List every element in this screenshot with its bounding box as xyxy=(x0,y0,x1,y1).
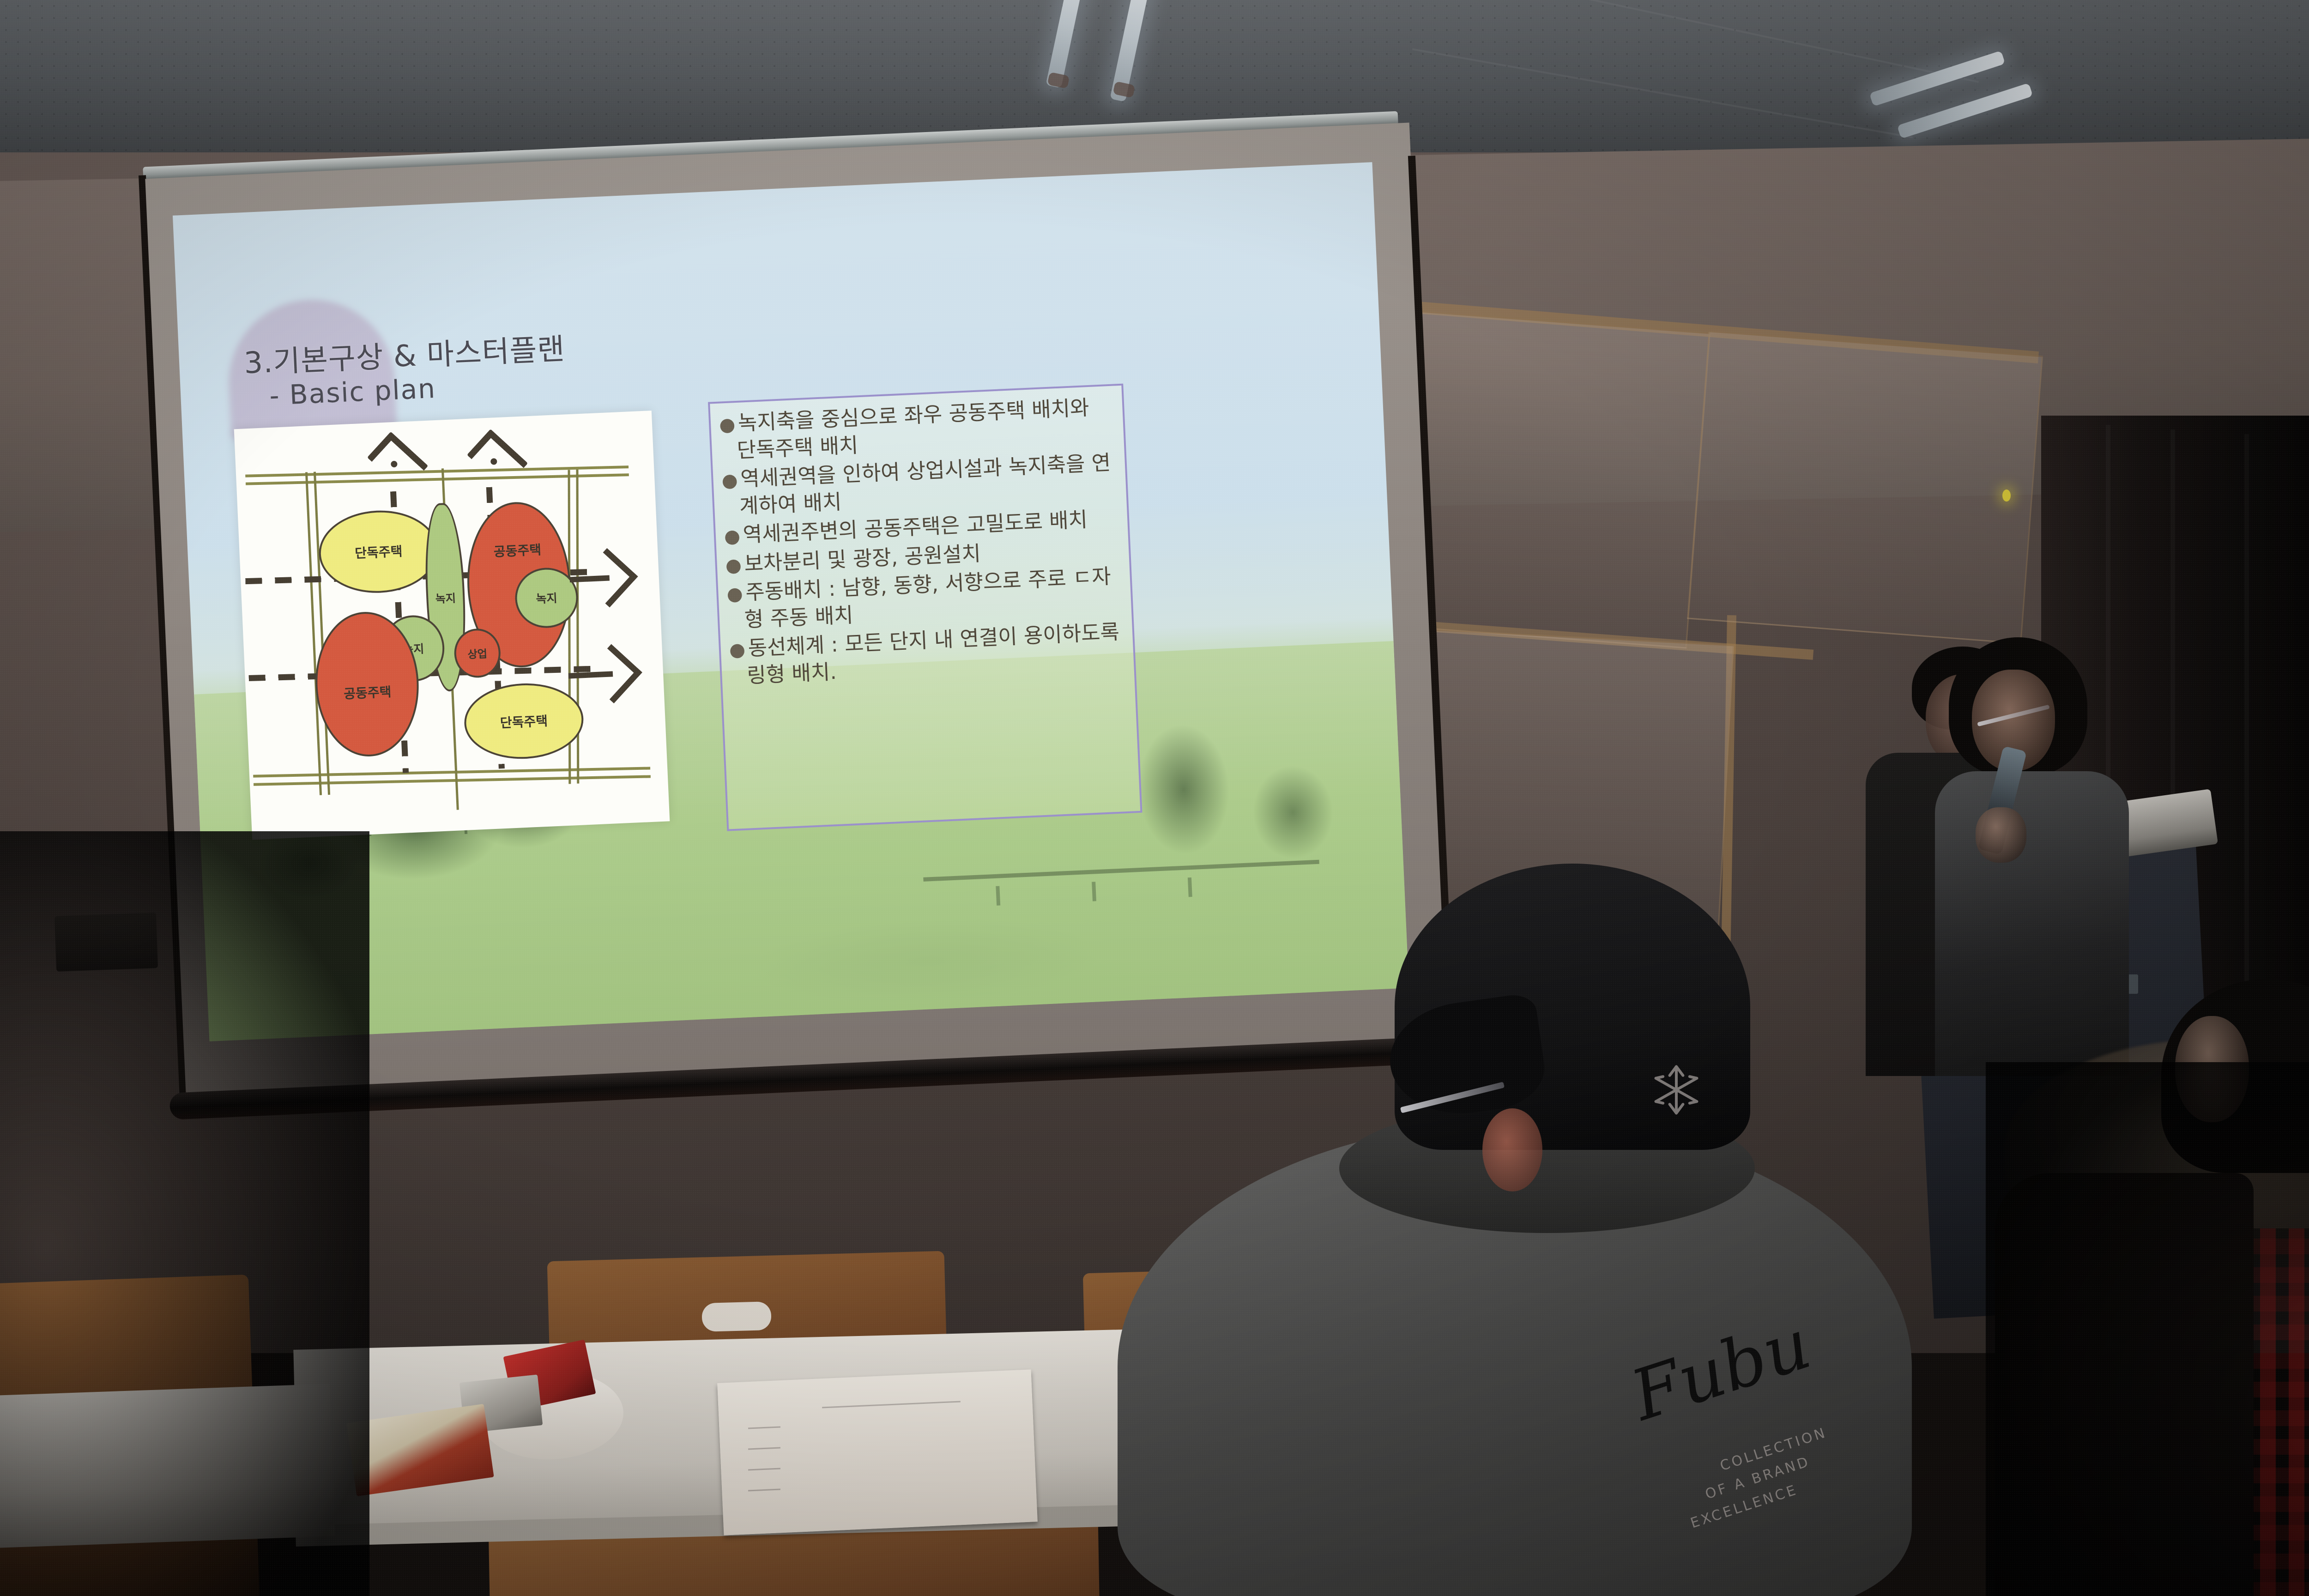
snowflake-icon xyxy=(1649,1062,1704,1118)
corner-shadow-left xyxy=(0,831,369,1596)
diagram-zone-label: 공동주택 xyxy=(343,682,392,703)
chair-handle-slot xyxy=(701,1301,772,1332)
slide-bullet-panel: 녹지축을 중심으로 좌우 공동주택 배치와 단독주택 배치 역세권역을 인하여 … xyxy=(708,384,1142,831)
diagram-zone-label: 단독주택 xyxy=(500,711,548,731)
presenter-hand xyxy=(1976,807,2026,863)
diagram-zone-label: 단독주택 xyxy=(354,541,403,562)
slide-subtitle: - Basic plan xyxy=(269,373,436,411)
ear xyxy=(1482,1108,1542,1191)
basic-plan-diagram: 단독주택 공동주택 녹지 녹지 녹지 상업 xyxy=(234,411,670,840)
diagram-road-bottom-2 xyxy=(254,775,651,786)
wall-panel xyxy=(1687,331,2043,644)
screenshot-root: 3.기본구상 & 마스터플랜 - Basic plan xyxy=(0,0,2309,1596)
diagram-zone-label: 공동주택 xyxy=(493,540,542,561)
audience-foreground-person: Fubu COLLECTION OF A BRAND EXCELLENCE xyxy=(1118,864,1995,1596)
diagram-road-left xyxy=(305,472,322,795)
diagram-canvas: 단독주택 공동주택 녹지 녹지 녹지 상업 xyxy=(234,411,670,840)
diagram-zone-label: 상업 xyxy=(467,645,488,661)
indicator-led xyxy=(2002,490,2011,502)
diagram-zone-detached-2: 단독주택 xyxy=(463,681,585,761)
diagram-zone-label: 녹지 xyxy=(435,589,456,606)
diagram-zone-detached-1: 단독주택 xyxy=(317,508,440,595)
handout-papers xyxy=(717,1369,1038,1535)
corner-shadow-right xyxy=(1986,1062,2309,1596)
diagram-entry-marker-icon xyxy=(367,431,428,491)
diagram-zone-label: 녹지 xyxy=(536,589,558,607)
diagram-entry-marker-icon xyxy=(467,429,528,489)
diagram-road-left-2 xyxy=(314,472,330,795)
